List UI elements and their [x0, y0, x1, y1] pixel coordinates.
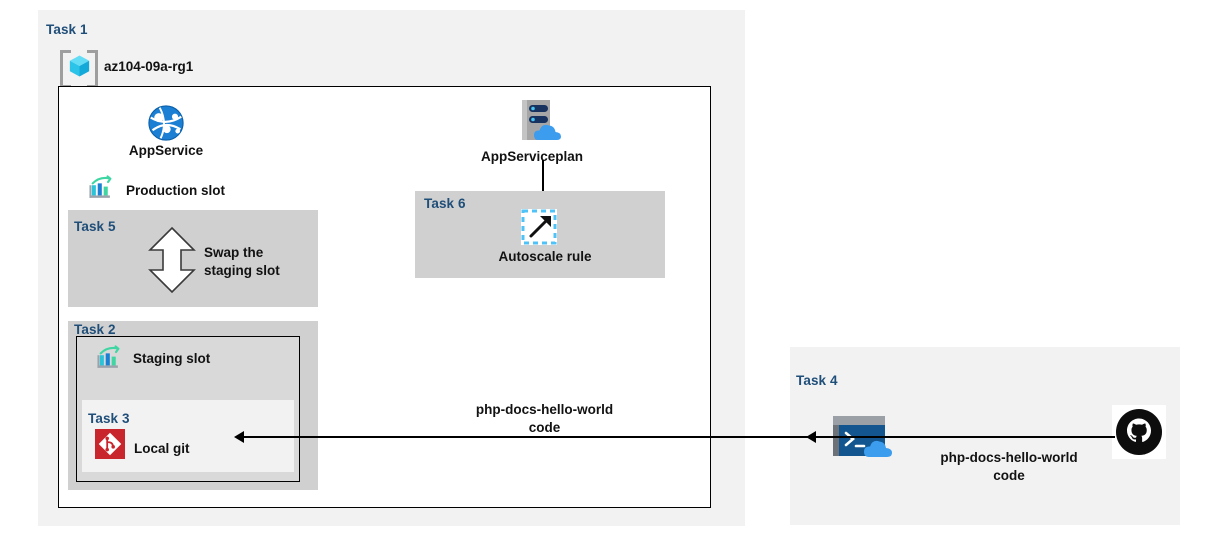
- task6-label: Task 6: [424, 196, 466, 211]
- appservice-globe-icon: [148, 105, 184, 141]
- task4-label: Task 4: [796, 373, 838, 388]
- cube-glyph: [69, 54, 90, 78]
- production-slot-label: Production slot: [126, 182, 225, 199]
- local-git-label: Local git: [134, 440, 190, 457]
- resource-group-cube-icon: [60, 50, 98, 82]
- task4-arrow-label: php-docs-hello-worldcode: [918, 449, 1100, 485]
- middle-arrow-label: php-docs-hello-worldcode: [432, 401, 657, 437]
- connector-cloudshell-to-localgit-arrowhead: [234, 431, 244, 443]
- middle-arrow-label-line2: code: [529, 420, 561, 435]
- appservice-label: AppService: [106, 142, 226, 159]
- appserviceplan-server-cloud-icon: [512, 98, 572, 144]
- deployment-slot-icon: [96, 345, 124, 371]
- git-icon: [95, 429, 125, 459]
- task4-arrow-label-line1: php-docs-hello-world: [940, 450, 1077, 465]
- task1-label: Task 1: [46, 22, 88, 37]
- swap-line1: Swap the: [204, 245, 263, 260]
- diagram-canvas: Task 1 az104-09a-rg1 AppService Producti…: [0, 0, 1218, 545]
- task3-label: Task 3: [88, 411, 130, 426]
- swap-line2: staging slot: [204, 263, 280, 278]
- autoscale-rule-label: Autoscale rule: [460, 248, 630, 265]
- github-octocat-icon: [1112, 405, 1166, 459]
- staging-slot-label: Staging slot: [133, 350, 210, 367]
- appserviceplan-label: AppServiceplan: [452, 148, 612, 165]
- task5-swap-text: Swap thestaging slot: [204, 244, 314, 280]
- autoscale-arrow-icon: [520, 208, 558, 246]
- github-glyph: [1112, 405, 1166, 459]
- connector-github-to-cloudshell-line: [815, 436, 1115, 438]
- task5-label: Task 5: [74, 219, 116, 234]
- middle-arrow-label-line1: php-docs-hello-world: [476, 402, 613, 417]
- deployment-slot-icon: [88, 175, 116, 201]
- swap-double-arrow-icon: [146, 226, 198, 294]
- resource-group-name: az104-09a-rg1: [104, 58, 193, 75]
- task4-arrow-label-line2: code: [993, 468, 1025, 483]
- task2-label: Task 2: [74, 322, 116, 337]
